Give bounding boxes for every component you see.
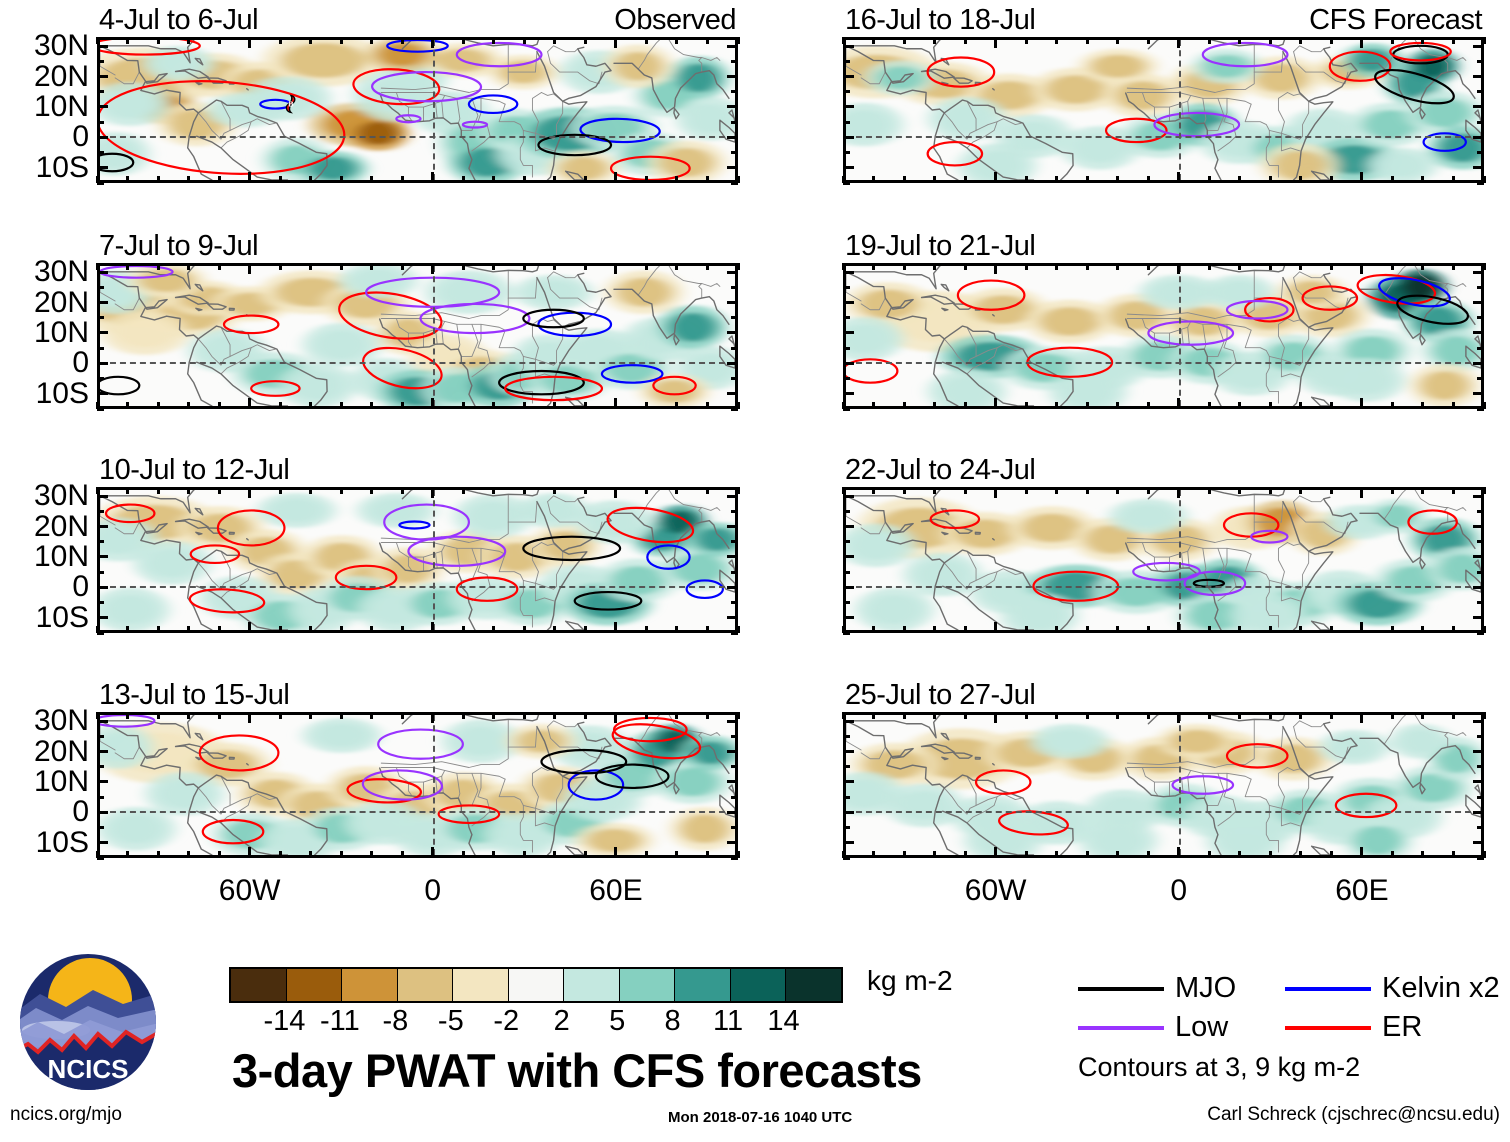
axis-tick [1238, 487, 1241, 494]
axis-tick [843, 857, 850, 860]
axis-tick [157, 402, 160, 409]
axis-tick [492, 37, 495, 44]
longitude-tick-label: 0 [1170, 874, 1187, 908]
axis-tick [1116, 263, 1119, 270]
axis-tick [97, 271, 108, 274]
ncics-logo: NCICS [18, 952, 158, 1092]
axis-tick [340, 712, 343, 719]
axis-tick [903, 487, 906, 494]
axis-tick [523, 263, 526, 270]
axis-tick [737, 487, 740, 494]
axis-tick [97, 151, 104, 154]
axis-tick [1473, 45, 1484, 48]
axis-tick [97, 331, 108, 334]
axis-tick [218, 402, 221, 409]
axis-tick [1477, 90, 1484, 93]
equator-line [100, 811, 735, 813]
axis-tick [727, 720, 738, 723]
axis-tick [187, 176, 190, 183]
axis-tick [584, 37, 587, 44]
axis-tick [370, 626, 373, 633]
axis-tick [97, 841, 108, 844]
axis-tick [1452, 851, 1455, 858]
axis-tick [218, 37, 221, 44]
axis-tick [1299, 37, 1302, 44]
axis-tick [126, 487, 129, 494]
axis-tick [279, 37, 282, 44]
map-panel-1: 4-Jul to 6-JulObserved30N20N10N010S B [97, 37, 738, 183]
axis-tick [523, 712, 526, 719]
axis-tick [645, 487, 648, 494]
axis-tick [553, 37, 556, 44]
axis-tick [97, 121, 104, 124]
axis-tick [843, 362, 854, 365]
axis-tick [523, 851, 526, 858]
axis-tick [1238, 402, 1241, 409]
colorbar-tick-label: -5 [438, 1005, 464, 1038]
legend-line-swatch [1078, 1026, 1164, 1030]
axis-tick [1477, 857, 1484, 860]
axis-tick [248, 622, 251, 633]
axis-tick [1116, 37, 1119, 44]
axis-tick [1360, 622, 1363, 633]
axis-tick [97, 136, 108, 139]
axis-tick [1299, 626, 1302, 633]
axis-tick [97, 632, 104, 635]
map-panel-2: 7-Jul to 9-Jul30N20N10N010S [97, 263, 738, 409]
colorbar-tick-label: -11 [320, 1005, 360, 1038]
colorbar-tick-label: 11 [713, 1005, 743, 1038]
legend-line-swatch [1285, 1026, 1371, 1030]
axis-tick [843, 90, 850, 93]
axis-tick [964, 37, 967, 44]
axis-tick [727, 105, 738, 108]
axis-tick [706, 37, 709, 44]
axis-tick [1452, 37, 1455, 44]
axis-tick [431, 622, 434, 633]
axis-tick [731, 571, 738, 574]
latitude-tick-label: 10S [36, 151, 89, 185]
prime-meridian-line [433, 490, 435, 630]
axis-tick [97, 765, 104, 768]
latitude-tick-label: 10N [34, 90, 89, 124]
axis-tick [1477, 765, 1484, 768]
axis-tick [727, 841, 738, 844]
axis-tick [994, 622, 997, 633]
axis-tick [279, 263, 282, 270]
axis-tick [1477, 286, 1484, 289]
axis-tick [1269, 626, 1272, 633]
axis-tick [1452, 626, 1455, 633]
colorbar [229, 967, 843, 1003]
latitude-tick-label: 10N [34, 540, 89, 574]
panel-title: 4-Jul to 6-Jul [99, 4, 258, 37]
axis-tick [1421, 487, 1424, 494]
axis-tick [431, 398, 434, 409]
prime-meridian-line [1179, 715, 1181, 855]
axis-tick [842, 712, 845, 719]
axis-tick [1055, 263, 1058, 270]
axis-tick [994, 37, 997, 48]
axis-tick [1025, 626, 1028, 633]
axis-tick [523, 487, 526, 494]
map-panel-5: 16-Jul to 18-JulCFS Forecast [843, 37, 1484, 183]
axis-tick [431, 487, 434, 498]
axis-tick [1473, 720, 1484, 723]
axis-tick [843, 45, 854, 48]
axis-tick [584, 626, 587, 633]
axis-tick [1147, 37, 1150, 44]
axis-tick [1473, 555, 1484, 558]
axis-tick [97, 182, 104, 185]
latitude-tick-label: 20N [34, 735, 89, 769]
axis-tick [492, 176, 495, 183]
axis-tick [97, 166, 108, 169]
axis-tick [843, 495, 854, 498]
axis-tick [126, 851, 129, 858]
axis-tick [706, 712, 709, 719]
latitude-tick-label: 20N [34, 286, 89, 320]
axis-tick [1116, 487, 1119, 494]
axis-tick [218, 626, 221, 633]
longitude-tick-label: 60W [965, 874, 1027, 908]
axis-tick [675, 626, 678, 633]
axis-tick [309, 37, 312, 44]
prime-meridian-line [433, 40, 435, 180]
axis-tick [1391, 851, 1394, 858]
axis-tick [97, 510, 104, 513]
axis-tick [1208, 487, 1211, 494]
axis-tick [645, 37, 648, 44]
axis-tick [1299, 176, 1302, 183]
axis-tick [1238, 263, 1241, 270]
axis-tick [614, 847, 617, 858]
axis-tick [737, 263, 740, 270]
equator-line [846, 362, 1481, 364]
axis-tick [843, 555, 854, 558]
axis-tick [933, 37, 936, 44]
axis-tick [1086, 402, 1089, 409]
axis-tick [1477, 796, 1484, 799]
axis-tick [964, 487, 967, 494]
axis-tick [903, 176, 906, 183]
axis-tick [492, 487, 495, 494]
axis-tick [97, 826, 104, 829]
axis-tick [97, 408, 104, 411]
latitude-axis: 30N20N10N010S [5, 263, 97, 409]
axis-tick [1360, 398, 1363, 409]
axis-tick [1473, 271, 1484, 274]
axis-tick [933, 626, 936, 633]
axis-tick [523, 626, 526, 633]
longitude-tick-label: 60E [1335, 874, 1388, 908]
axis-tick [401, 402, 404, 409]
axis-tick [97, 601, 104, 604]
map-plot-area: B [97, 37, 738, 183]
axis-tick [553, 626, 556, 633]
axis-tick [727, 750, 738, 753]
axis-tick [1177, 487, 1180, 498]
axis-tick [1208, 712, 1211, 719]
axis-tick [1055, 851, 1058, 858]
axis-tick [370, 176, 373, 183]
latitude-tick-label: 10N [34, 316, 89, 350]
axis-tick [1360, 712, 1363, 723]
tropical-cyclone-marker: B [282, 94, 299, 115]
axis-tick [843, 765, 850, 768]
axis-tick [1391, 37, 1394, 44]
axis-tick [97, 495, 108, 498]
map-plot-area [843, 712, 1484, 858]
latitude-tick-label: 10S [36, 601, 89, 635]
axis-tick [97, 90, 104, 93]
axis-tick [157, 487, 160, 494]
axis-tick [187, 37, 190, 44]
axis-tick [1025, 176, 1028, 183]
axis-tick [187, 626, 190, 633]
axis-tick [492, 626, 495, 633]
axis-tick [903, 851, 906, 858]
axis-tick [1269, 402, 1272, 409]
axis-tick [727, 166, 738, 169]
axis-tick [1330, 176, 1333, 183]
axis-tick [843, 750, 854, 753]
axis-tick [1477, 377, 1484, 380]
axis-tick [1147, 176, 1150, 183]
axis-tick [370, 487, 373, 494]
axis-tick [1473, 75, 1484, 78]
axis-tick [645, 712, 648, 719]
axis-tick [1055, 37, 1058, 44]
axis-tick [187, 402, 190, 409]
axis-tick [340, 626, 343, 633]
prime-meridian-line [433, 266, 435, 406]
axis-tick [1360, 37, 1363, 48]
axis-tick [279, 487, 282, 494]
footer-site-link[interactable]: ncics.org/mjo [10, 1104, 122, 1126]
panel-title: 19-Jul to 21-Jul [845, 230, 1035, 263]
axis-tick [157, 263, 160, 270]
axis-tick [97, 316, 104, 319]
latitude-tick-label: 0 [72, 346, 89, 380]
axis-tick [843, 286, 850, 289]
axis-tick [340, 37, 343, 44]
axis-tick [97, 540, 104, 543]
axis-tick [462, 626, 465, 633]
axis-tick [1421, 37, 1424, 44]
axis-tick [1269, 487, 1272, 494]
axis-tick [1208, 402, 1211, 409]
axis-tick [431, 712, 434, 723]
axis-tick [97, 586, 108, 589]
axis-tick [97, 735, 104, 738]
axis-tick [843, 121, 850, 124]
axis-tick [523, 176, 526, 183]
axis-tick [1025, 402, 1028, 409]
axis-tick [309, 712, 312, 719]
panel-title: 13-Jul to 15-Jul [99, 679, 289, 712]
axis-tick [1177, 622, 1180, 633]
axis-tick [675, 402, 678, 409]
axis-tick [731, 632, 738, 635]
axis-tick [843, 136, 854, 139]
colorbar-tick-label: -2 [493, 1005, 519, 1038]
map-plot-area [97, 712, 738, 858]
axis-tick [1483, 37, 1486, 44]
axis-tick [1086, 851, 1089, 858]
axis-tick [1477, 121, 1484, 124]
panel-title: 7-Jul to 9-Jul [99, 230, 258, 263]
panel-title: 10-Jul to 12-Jul [99, 454, 289, 487]
axis-tick [157, 626, 160, 633]
axis-tick [401, 712, 404, 719]
latitude-axis: 30N20N10N010S [5, 712, 97, 858]
axis-tick [843, 811, 854, 814]
axis-tick [843, 392, 854, 395]
axis-tick [843, 166, 854, 169]
axis-tick [126, 626, 129, 633]
axis-tick [1055, 176, 1058, 183]
axis-tick [727, 811, 738, 814]
axis-tick [903, 263, 906, 270]
axis-tick [248, 398, 251, 409]
axis-tick [1269, 263, 1272, 270]
colorbar-tick-label: 8 [665, 1005, 681, 1038]
axis-tick [1360, 263, 1363, 274]
axis-tick [1473, 586, 1484, 589]
axis-tick [248, 487, 251, 498]
axis-tick [1391, 487, 1394, 494]
map-panel-4: 13-Jul to 15-Jul30N20N10N010S60W060E [97, 712, 738, 858]
axis-tick [706, 487, 709, 494]
axis-tick [1330, 263, 1333, 270]
axis-tick [248, 37, 251, 48]
axis-tick [843, 632, 850, 635]
axis-tick [96, 487, 99, 494]
axis-tick [1477, 316, 1484, 319]
axis-tick [933, 851, 936, 858]
axis-tick [340, 402, 343, 409]
axis-tick [97, 811, 108, 814]
axis-tick [279, 712, 282, 719]
colorbar-tick-label: 14 [767, 1005, 799, 1038]
axis-tick [1269, 712, 1272, 719]
legend-line-swatch [1285, 987, 1371, 991]
colorbar-tick-label: -8 [382, 1005, 408, 1038]
axis-tick [994, 487, 997, 498]
axis-tick [1391, 263, 1394, 270]
axis-tick [218, 712, 221, 719]
axis-tick [964, 176, 967, 183]
logo-text: NCICS [48, 1054, 129, 1084]
legend-label: MJO [1175, 972, 1236, 1005]
equator-line [100, 586, 735, 588]
axis-tick [248, 847, 251, 858]
longitude-axis: 60W060E [843, 858, 1484, 908]
map-plot-area [843, 263, 1484, 409]
axis-tick [401, 487, 404, 494]
axis-tick [872, 626, 875, 633]
latitude-tick-label: 20N [34, 60, 89, 94]
axis-tick [370, 402, 373, 409]
axis-tick [1477, 60, 1484, 63]
axis-tick [1116, 712, 1119, 719]
axis-tick [157, 176, 160, 183]
axis-tick [731, 408, 738, 411]
axis-tick [1452, 402, 1455, 409]
axis-tick [1391, 176, 1394, 183]
axis-tick [1452, 176, 1455, 183]
axis-tick [964, 626, 967, 633]
axis-tick [97, 780, 108, 783]
colorbar-tick-label: 5 [609, 1005, 625, 1038]
axis-tick [279, 851, 282, 858]
axis-tick [675, 851, 678, 858]
legend-item-kelvin-x2: Kelvin x2 [1285, 972, 1500, 1005]
longitude-tick-label: 60W [219, 874, 281, 908]
axis-tick [1147, 626, 1150, 633]
axis-tick [126, 37, 129, 44]
axis-tick [1483, 487, 1486, 494]
axis-tick [964, 851, 967, 858]
axis-tick [872, 487, 875, 494]
axis-tick [401, 176, 404, 183]
axis-tick [1116, 626, 1119, 633]
axis-tick [187, 487, 190, 494]
axis-tick [1299, 712, 1302, 719]
axis-tick [492, 402, 495, 409]
axis-tick [492, 712, 495, 719]
axis-tick [462, 263, 465, 270]
panel-title: 25-Jul to 27-Jul [845, 679, 1035, 712]
axis-tick [309, 626, 312, 633]
prime-meridian-line [433, 715, 435, 855]
axis-tick [645, 851, 648, 858]
axis-tick [462, 851, 465, 858]
axis-tick [706, 402, 709, 409]
latitude-tick-label: 30N [34, 479, 89, 513]
axis-tick [675, 712, 678, 719]
axis-tick [727, 45, 738, 48]
axis-tick [1299, 487, 1302, 494]
axis-tick [933, 487, 936, 494]
axis-tick [872, 37, 875, 44]
colorbar-unit-label: kg m-2 [867, 965, 953, 997]
axis-tick [157, 712, 160, 719]
axis-tick [218, 263, 221, 270]
axis-tick [401, 263, 404, 270]
axis-tick [279, 402, 282, 409]
axis-tick [727, 616, 738, 619]
axis-tick [401, 37, 404, 44]
axis-tick [933, 712, 936, 719]
axis-tick [964, 263, 967, 270]
axis-tick [248, 172, 251, 183]
axis-tick [731, 121, 738, 124]
axis-tick [843, 347, 850, 350]
axis-tick [309, 263, 312, 270]
axis-tick [492, 263, 495, 270]
axis-tick [614, 712, 617, 723]
axis-tick [1208, 626, 1211, 633]
axis-tick [584, 263, 587, 270]
axis-tick [731, 510, 738, 513]
axis-tick [1177, 847, 1180, 858]
latitude-tick-label: 30N [34, 704, 89, 738]
axis-tick [1477, 571, 1484, 574]
colorbar-swatch [620, 969, 676, 1001]
colorbar-ticks: -14-11-8-5-22581114 [229, 1005, 839, 1045]
